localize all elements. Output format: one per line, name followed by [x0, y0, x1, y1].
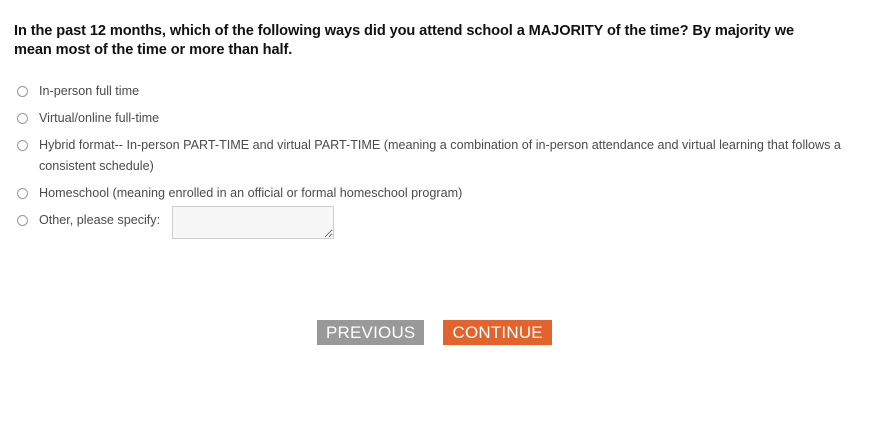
radio-button-virtual-online-full-time[interactable] — [17, 113, 28, 124]
navigation-button-bar: PREVIOUS CONTINUE — [317, 320, 552, 345]
option-label-homeschool: Homeschool (meaning enrolled in an offic… — [39, 183, 864, 204]
continue-button[interactable]: CONTINUE — [443, 320, 551, 345]
other-specify-textarea[interactable] — [172, 206, 334, 239]
option-row-in-person-full-time[interactable]: In-person full time — [14, 81, 864, 108]
option-label-hybrid-format: Hybrid format-- In-person PART-TIME and … — [39, 135, 849, 177]
answer-options-list: In-person full time Virtual/online full-… — [14, 81, 864, 250]
option-label-virtual-online-full-time: Virtual/online full-time — [39, 108, 864, 129]
option-label-in-person-full-time: In-person full time — [39, 81, 864, 102]
option-row-homeschool[interactable]: Homeschool (meaning enrolled in an offic… — [14, 183, 864, 210]
option-row-hybrid-format[interactable]: Hybrid format-- In-person PART-TIME and … — [14, 135, 864, 183]
radio-button-homeschool[interactable] — [17, 188, 28, 199]
survey-question-page: In the past 12 months, which of the foll… — [0, 0, 880, 423]
option-label-other: Other, please specify: — [39, 210, 160, 231]
radio-button-in-person-full-time[interactable] — [17, 86, 28, 97]
option-row-virtual-online-full-time[interactable]: Virtual/online full-time — [14, 108, 864, 135]
previous-button[interactable]: PREVIOUS — [317, 320, 424, 345]
option-row-other[interactable]: Other, please specify: — [14, 210, 864, 250]
other-option-content: Other, please specify: — [39, 210, 864, 239]
radio-button-other[interactable] — [17, 215, 28, 226]
question-title: In the past 12 months, which of the foll… — [14, 22, 832, 60]
radio-button-hybrid-format[interactable] — [17, 140, 28, 151]
